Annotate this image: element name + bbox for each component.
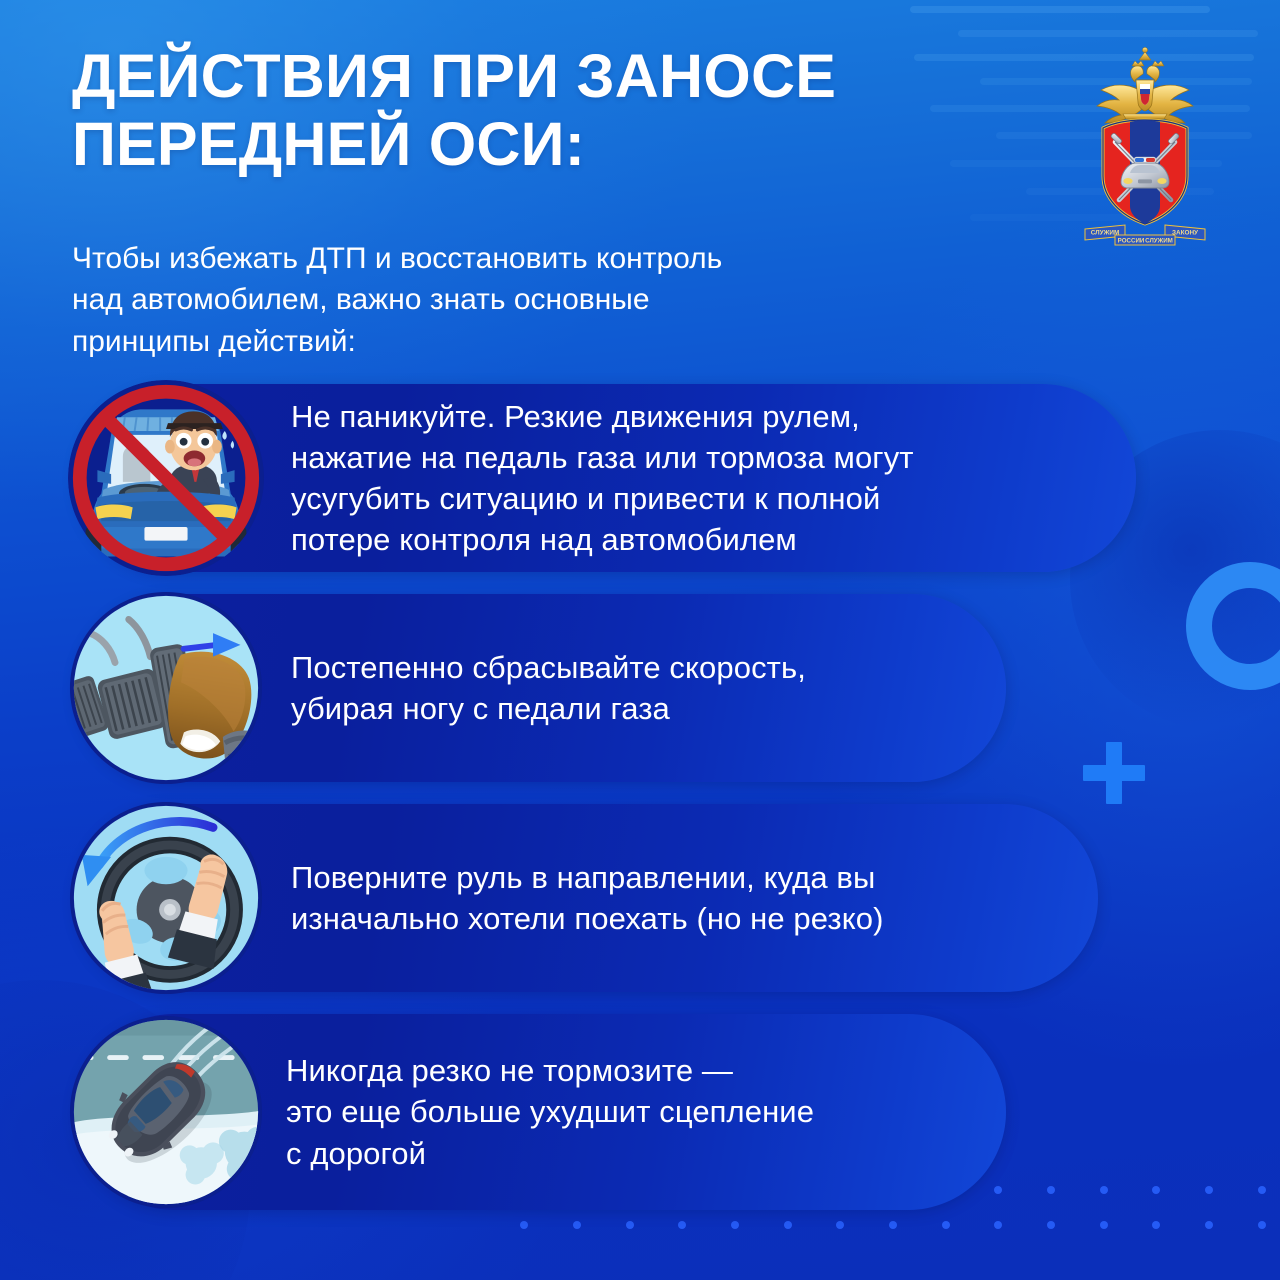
skidding-car-icon bbox=[68, 1014, 264, 1210]
infographic-poster: ДЕЙСТВИЯ ПРИ ЗАНОСЕ ПЕРЕДНЕЙ ОСИ: bbox=[0, 0, 1280, 1280]
advice-card-text: Поверните руль в направлении, куда вы из… bbox=[291, 857, 924, 939]
steering-wheel-turn-icon bbox=[68, 800, 264, 996]
advice-card-text: Постепенно сбрасывайте скорость, убирая … bbox=[291, 647, 846, 729]
advice-card-text: Не паникуйте. Резкие движения рулем, наж… bbox=[291, 396, 954, 561]
emblem-motto-left: СЛУЖИМ bbox=[1091, 229, 1120, 236]
intro-paragraph: Чтобы избежать ДТП и восстановить контро… bbox=[72, 238, 972, 362]
poster-header: ДЕЙСТВИЯ ПРИ ЗАНОСЕ ПЕРЕДНЕЙ ОСИ: bbox=[72, 42, 1220, 246]
page-title: ДЕЙСТВИЯ ПРИ ЗАНОСЕ ПЕРЕДНЕЙ ОСИ: bbox=[72, 42, 836, 179]
no-panic-driver-icon bbox=[68, 380, 264, 576]
advice-card-text: Никогда резко не тормозите — это еще бол… bbox=[286, 1050, 854, 1174]
emblem-motto-center: РОССИИ bbox=[1118, 238, 1145, 245]
advice-card: Никогда резко не тормозите — это еще бол… bbox=[76, 1014, 1006, 1210]
advice-card-list: Не паникуйте. Резкие движения рулем, наж… bbox=[76, 384, 1206, 1232]
emblem-motto-center2: СЛУЖИМ bbox=[1145, 238, 1173, 245]
emblem-motto-right: ЗАКОНУ bbox=[1172, 229, 1199, 236]
gibdd-emblem: СЛУЖИМ ЗАКОНУ РОССИИ СЛУЖИМ bbox=[1070, 46, 1220, 246]
foot-off-gas-pedal-icon bbox=[68, 590, 264, 786]
advice-card: Постепенно сбрасывайте скорость, убирая … bbox=[76, 594, 1006, 782]
advice-card: Не паникуйте. Резкие движения рулем, наж… bbox=[76, 384, 1136, 572]
advice-card: Поверните руль в направлении, куда вы из… bbox=[76, 804, 1098, 992]
